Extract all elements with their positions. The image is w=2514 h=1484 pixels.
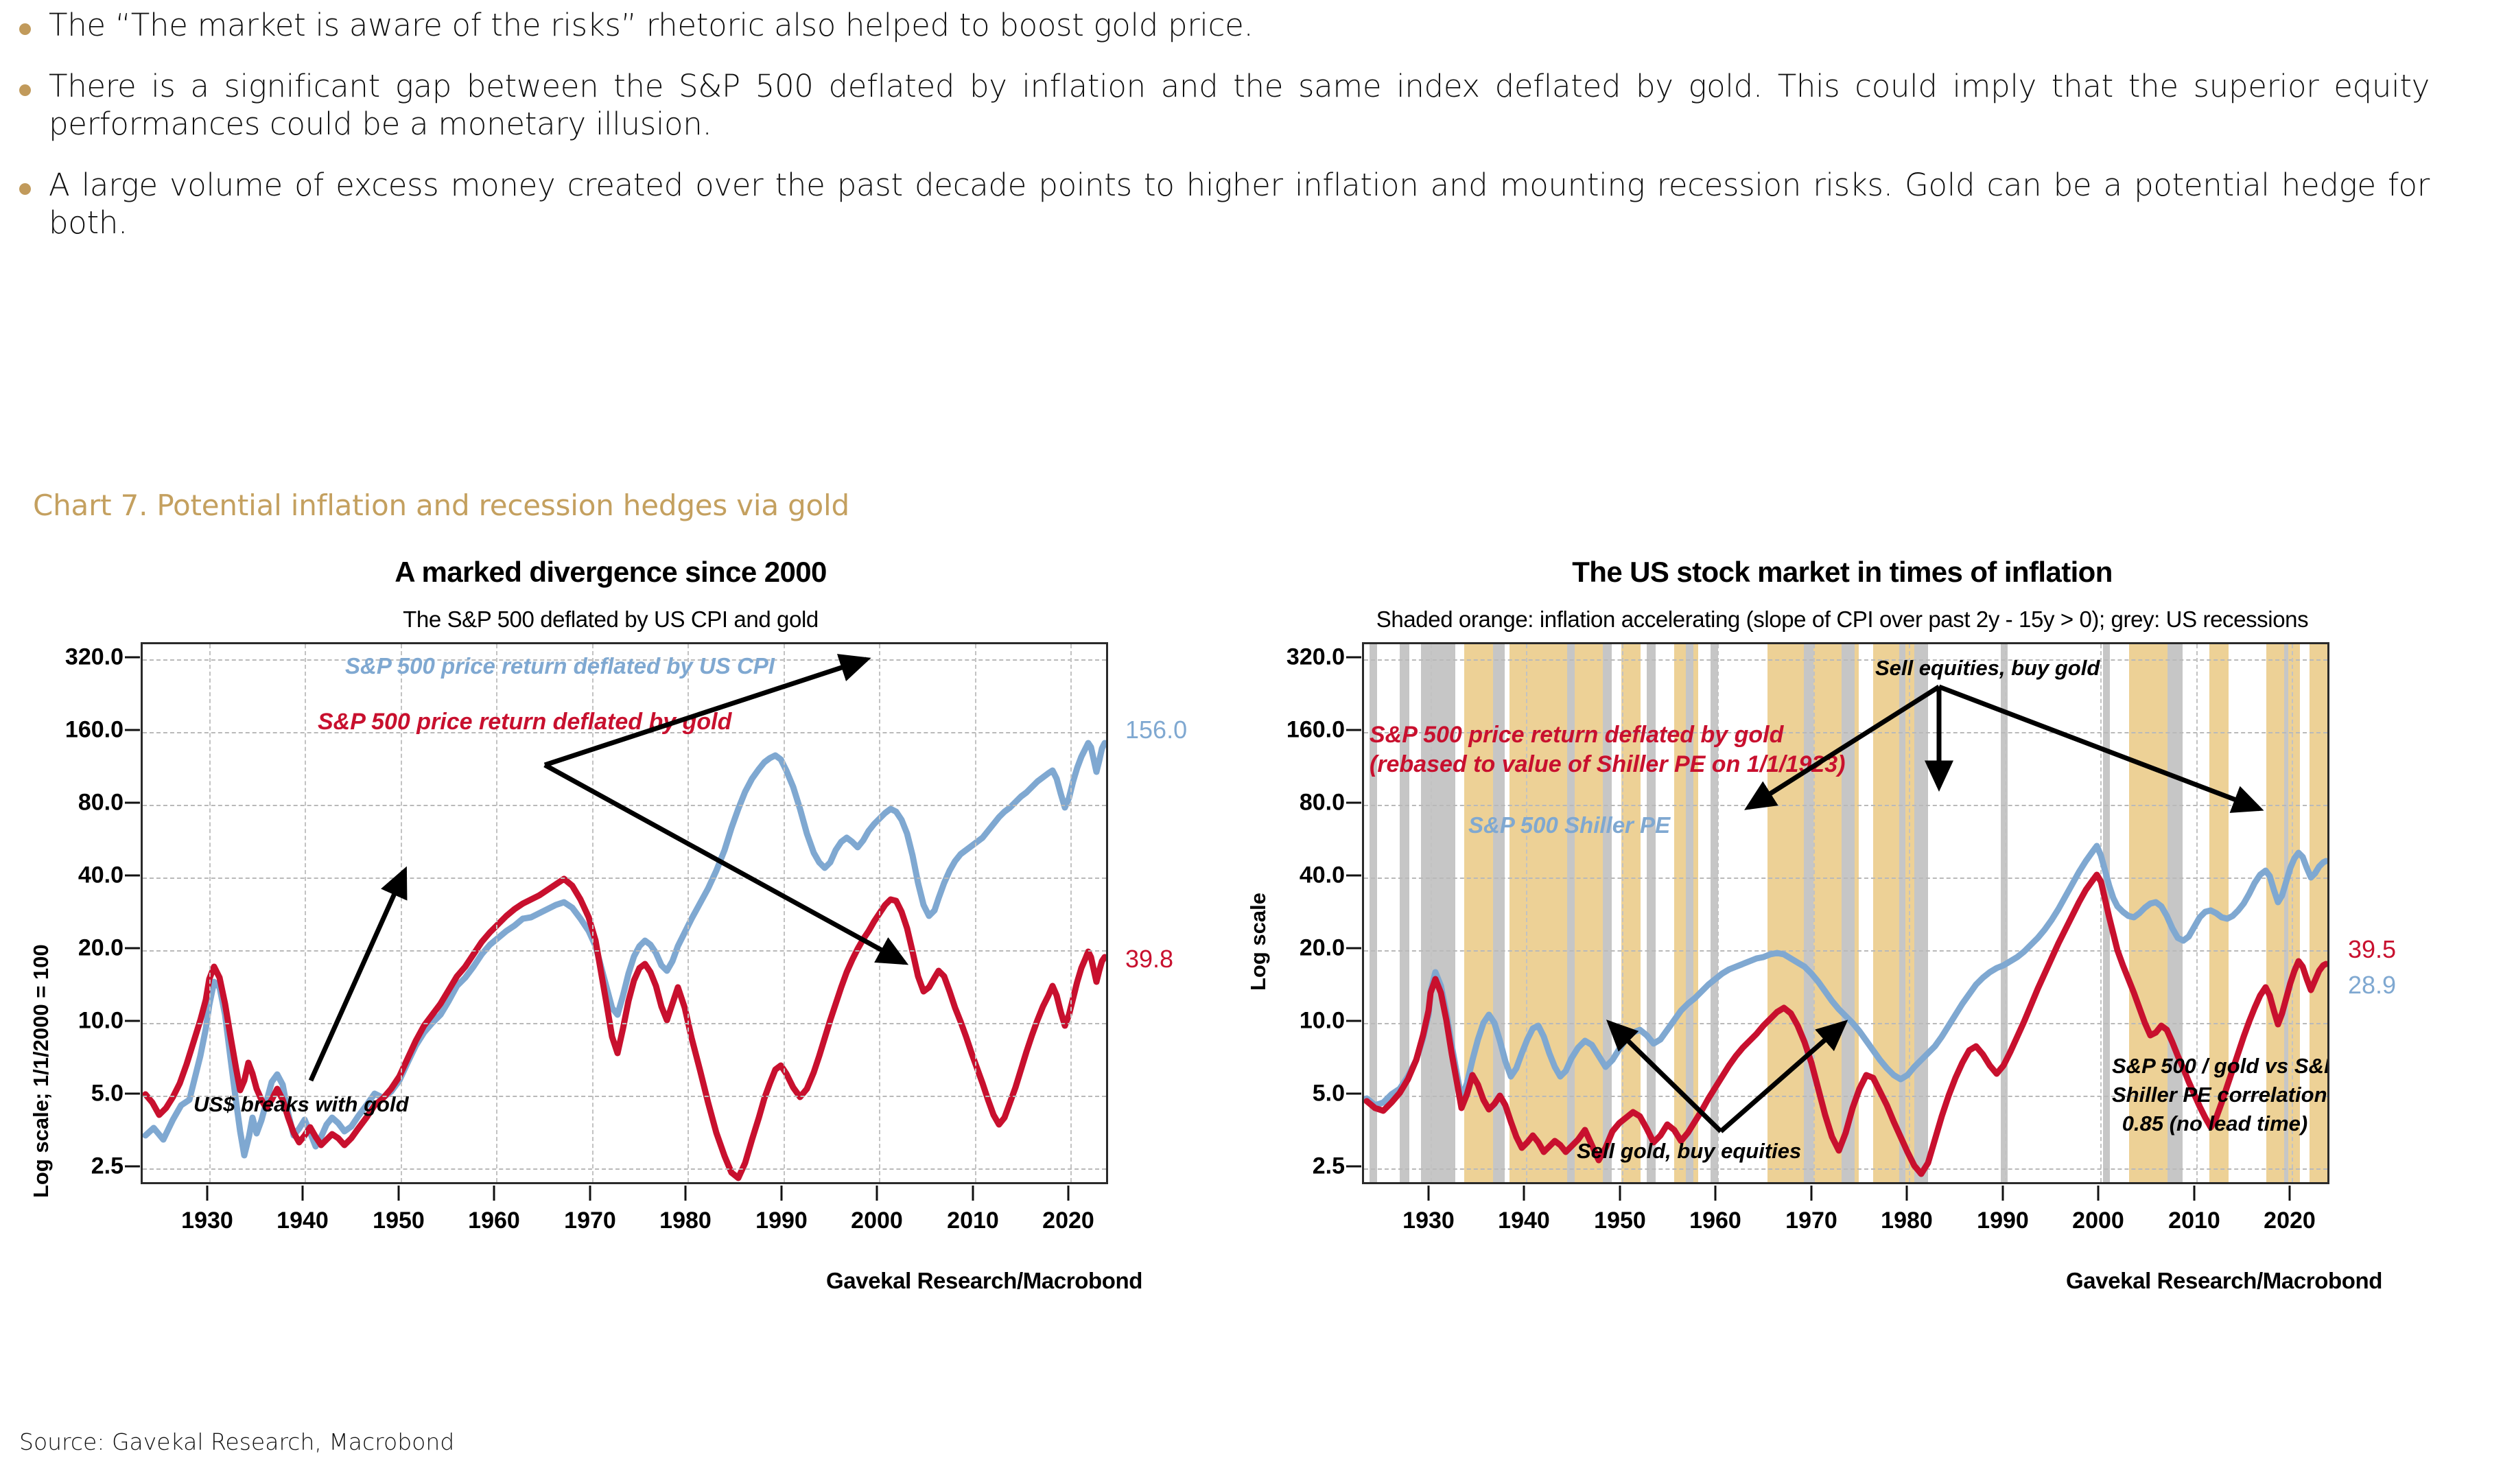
- y-tick-label: 80.0: [78, 790, 124, 816]
- x-tick-label: 1930: [1402, 1208, 1455, 1234]
- x-tick-label: 2010: [947, 1208, 999, 1234]
- x-tick-label: 2000: [2072, 1208, 2124, 1234]
- x-tick-label: 1980: [659, 1208, 712, 1234]
- x-tick-label: 1940: [1498, 1208, 1550, 1234]
- x-tick-label: 1970: [564, 1208, 616, 1234]
- y-tick-label: 5.0: [1313, 1081, 1345, 1107]
- left-annotation-arrow: [143, 644, 1106, 1184]
- list-item: There is a significant gap between the S…: [19, 68, 2448, 143]
- x-tick-label: 1930: [181, 1208, 233, 1234]
- left-plot-area: S&P 500 price return deflated by US CPI …: [141, 642, 1108, 1184]
- x-tick-label: 2020: [1042, 1208, 1094, 1234]
- x-tick-label: 1960: [468, 1208, 520, 1234]
- right-chart-credit: Gavekal Research/Macrobond: [2066, 1268, 2382, 1294]
- y-tick-label: 5.0: [91, 1081, 124, 1107]
- bullet-dot-icon: [19, 23, 31, 35]
- y-tick-label: 80.0: [1300, 790, 1345, 816]
- y-tick-label: 2.5: [1313, 1153, 1345, 1180]
- source-note: Source: Gavekal Research, Macrobond: [19, 1428, 454, 1455]
- chart-heading: Chart 7. Potential inflation and recessi…: [33, 488, 849, 522]
- left-chart-title: A marked divergence since 2000: [7, 556, 1214, 589]
- x-tick-label: 2010: [2168, 1208, 2220, 1234]
- right-end-label-red: 39.5: [2348, 935, 2396, 964]
- left-end-label-blue: 156.0: [1125, 716, 1187, 744]
- bullet-text: A large volume of excess money created o…: [49, 167, 2430, 242]
- y-tick-label: 160.0: [1287, 717, 1345, 744]
- bullet-text: There is a significant gap between the S…: [49, 68, 2430, 143]
- x-tick-label: 1950: [1594, 1208, 1646, 1234]
- right-end-label-blue: 28.9: [2348, 971, 2396, 1000]
- list-item: A large volume of excess money created o…: [19, 167, 2448, 242]
- y-tick-label: 2.5: [91, 1153, 124, 1180]
- y-tick-label: 40.0: [78, 862, 124, 889]
- y-tick-label: 40.0: [1300, 862, 1345, 889]
- left-chart-panel: A marked divergence since 2000 The S&P 5…: [7, 556, 1214, 1369]
- right-annotation-arrows: [1364, 644, 2327, 1184]
- x-tick-label: 1990: [1977, 1208, 2029, 1234]
- y-tick-label: 20.0: [78, 935, 124, 962]
- left-y-axis-title: Log scale; 1/1/2000 = 100: [29, 944, 54, 1198]
- list-item: The “The market is aware of the risks” r…: [19, 7, 2448, 45]
- right-y-axis-title: Log scale: [1246, 893, 1271, 991]
- x-tick-label: 1950: [373, 1208, 425, 1234]
- x-tick-label: 2000: [851, 1208, 903, 1234]
- x-tick-label: 1970: [1785, 1208, 1837, 1234]
- bullet-list: The “The market is aware of the risks” r…: [19, 7, 2448, 265]
- right-chart-subtitle: Shaded orange: inflation accelerating (s…: [1228, 606, 2456, 633]
- y-tick-label: 160.0: [65, 717, 124, 744]
- y-tick-label: 320.0: [65, 644, 124, 671]
- left-end-label-red: 39.8: [1125, 945, 1173, 974]
- bullet-dot-icon: [19, 84, 31, 96]
- x-tick-label: 1980: [1881, 1208, 1933, 1234]
- y-tick-label: 10.0: [78, 1008, 124, 1035]
- x-tick-label: 1940: [277, 1208, 329, 1234]
- left-chart-subtitle: The S&P 500 deflated by US CPI and gold: [7, 606, 1214, 633]
- bullet-text: The “The market is aware of the risks” r…: [49, 7, 2430, 45]
- right-chart-title: The US stock market in times of inflatio…: [1228, 556, 2456, 589]
- bullet-dot-icon: [19, 183, 31, 195]
- x-tick-label: 1990: [755, 1208, 808, 1234]
- x-tick-label: 1960: [1689, 1208, 1741, 1234]
- y-tick-label: 20.0: [1300, 935, 1345, 962]
- y-tick-label: 320.0: [1287, 644, 1345, 671]
- x-tick-label: 2020: [2264, 1208, 2316, 1234]
- right-plot-area: S&P 500 price return deflated by gold (r…: [1362, 642, 2329, 1184]
- right-chart-panel: The US stock market in times of inflatio…: [1228, 556, 2456, 1369]
- left-chart-credit: Gavekal Research/Macrobond: [826, 1268, 1142, 1294]
- y-tick-label: 10.0: [1300, 1008, 1345, 1035]
